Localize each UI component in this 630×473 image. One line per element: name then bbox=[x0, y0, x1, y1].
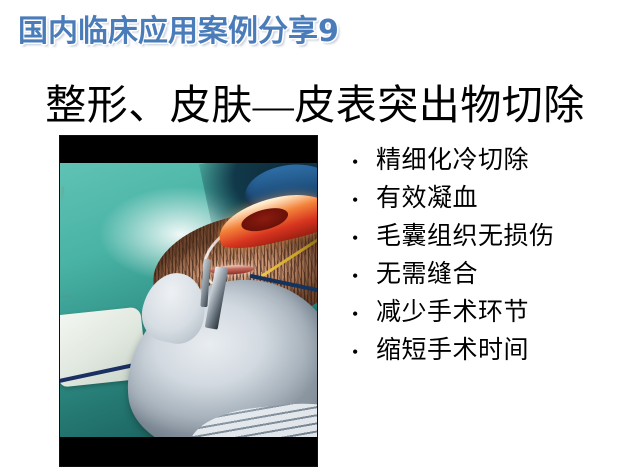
bullet-marker-icon: • bbox=[352, 337, 376, 367]
list-item-label: 精细化冷切除 bbox=[376, 145, 529, 177]
list-item-label: 缩短手术时间 bbox=[376, 335, 529, 367]
list-item: • 有效凝血 bbox=[352, 183, 620, 221]
bullet-marker-icon: • bbox=[352, 147, 376, 177]
bullet-marker-icon: • bbox=[352, 299, 376, 329]
photo-letterbox-top bbox=[60, 136, 317, 163]
bullet-list: • 精细化冷切除 • 有效凝血 • 毛囊组织无损伤 • 无需缝合 • 减少手术环… bbox=[352, 145, 620, 373]
slide-header: 国内临床应用案例分享9 bbox=[18, 12, 418, 60]
photo-letterbox-bottom bbox=[60, 437, 317, 466]
surgery-photo bbox=[60, 136, 317, 466]
header-title: 国内临床应用案例分享9 bbox=[18, 12, 418, 52]
bullet-marker-icon: • bbox=[352, 261, 376, 291]
bullet-marker-icon: • bbox=[352, 185, 376, 215]
photo-drape-print bbox=[62, 187, 142, 297]
list-item: • 减少手术环节 bbox=[352, 297, 620, 335]
slide-root: 国内临床应用案例分享9 整形、皮肤—皮表突出物切除 bbox=[0, 0, 630, 473]
list-item-label: 毛囊组织无损伤 bbox=[376, 221, 555, 253]
list-item-label: 无需缝合 bbox=[376, 259, 478, 291]
page-title: 整形、皮肤—皮表突出物切除 bbox=[0, 80, 630, 130]
list-item: • 无需缝合 bbox=[352, 259, 620, 297]
list-item: • 毛囊组织无损伤 bbox=[352, 221, 620, 259]
list-item: • 缩短手术时间 bbox=[352, 335, 620, 373]
list-item: • 精细化冷切除 bbox=[352, 145, 620, 183]
photo-content bbox=[60, 163, 317, 437]
list-item-label: 减少手术环节 bbox=[376, 297, 529, 329]
bullet-marker-icon: • bbox=[352, 223, 376, 253]
list-item-label: 有效凝血 bbox=[376, 183, 478, 215]
photo-glove-cuff bbox=[187, 397, 317, 437]
